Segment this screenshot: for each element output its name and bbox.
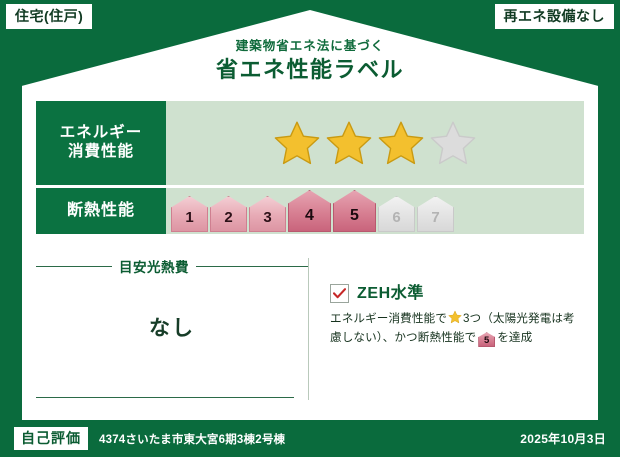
grade-number: 7 [431, 210, 439, 232]
star-icon-filled [324, 119, 374, 167]
lower-section: 目安光熱費 なし ZEH水準 エネルギー消費性能で3つ（太陽光発電は考慮しない）… [36, 256, 584, 404]
utility-cost-heading: 目安光熱費 [36, 256, 308, 276]
insulation-grade-5: 5 [333, 190, 376, 232]
issue-date: 2025年10月3日 [520, 430, 606, 447]
insulation-performance-header: 断熱性能 [36, 188, 166, 234]
heading-rule-left [36, 266, 112, 267]
performance-table: エネルギー 消費性能 断熱性能 1234567 [36, 101, 584, 237]
insulation-grade-7: 7 [417, 196, 454, 232]
page-title: 省エネ性能ラベル [0, 58, 620, 82]
property-address: 4374さいたま市東大宮6期3棟2号棟 [99, 431, 285, 447]
zeh-desc-part3: を達成 [497, 331, 532, 344]
star-icon-empty [428, 119, 478, 167]
building-type-tag: 住宅(住戸) [6, 4, 92, 29]
insulation-grade-3: 3 [249, 196, 286, 232]
inline-grade-number: 5 [484, 336, 489, 348]
energy-performance-label: 住宅(住戸) 再エネ設備なし 建築物省エネ法に基づく 省エネ性能ラベル エネルギ… [0, 0, 620, 457]
inline-grade-badge: 5 [478, 332, 495, 347]
star-icon-filled [376, 119, 426, 167]
self-evaluation-badge: 自己評価 [14, 427, 88, 450]
renewable-energy-tag: 再エネ設備なし [495, 4, 615, 29]
insulation-grade-1: 1 [171, 196, 208, 232]
utility-cost-value: なし [36, 312, 308, 342]
insulation-performance-row: 断熱性能 1234567 [36, 188, 584, 234]
energy-label-line2: 消費性能 [68, 143, 134, 162]
grade-number: 4 [305, 208, 314, 232]
label-title-block: 建築物省エネ法に基づく 省エネ性能ラベル [0, 40, 620, 82]
zeh-column: ZEH水準 エネルギー消費性能で3つ（太陽光発電は考慮しない）、かつ断熱性能で5… [308, 256, 584, 404]
zeh-block: ZEH水準 エネルギー消費性能で3つ（太陽光発電は考慮しない）、かつ断熱性能で5… [330, 284, 584, 348]
energy-label-line1: エネルギー [60, 124, 143, 143]
zeh-title-row: ZEH水準 [330, 284, 584, 303]
insulation-grade-6: 6 [378, 196, 415, 232]
grade-number: 2 [224, 210, 232, 232]
insulation-grade-2: 2 [210, 196, 247, 232]
insulation-performance-value: 1234567 [166, 188, 584, 234]
zeh-description: エネルギー消費性能で3つ（太陽光発電は考慮しない）、かつ断熱性能で5を達成 [330, 310, 584, 348]
star-rating [272, 119, 478, 167]
energy-performance-header: エネルギー 消費性能 [36, 101, 166, 185]
utility-cost-bottom-rule [36, 397, 294, 398]
zeh-desc-part1: エネルギー消費性能で [330, 312, 447, 325]
insulation-grade-4: 4 [288, 190, 331, 232]
grade-number: 3 [263, 210, 271, 232]
insulation-label: 断熱性能 [67, 201, 135, 221]
grade-number: 5 [350, 208, 359, 232]
star-icon-filled [272, 119, 322, 167]
grade-number: 1 [185, 210, 193, 232]
utility-cost-heading-text: 目安光熱費 [119, 256, 189, 276]
insulation-grade-scale: 1234567 [170, 190, 454, 232]
heading-rule-right [196, 266, 308, 267]
grade-number: 6 [392, 210, 400, 232]
title-subtitle: 建築物省エネ法に基づく [0, 40, 620, 54]
energy-performance-value [166, 101, 584, 185]
energy-performance-row: エネルギー 消費性能 [36, 101, 584, 185]
label-footer: 自己評価 4374さいたま市東大宮6期3棟2号棟 2025年10月3日 [0, 420, 620, 457]
zeh-checkbox[interactable] [330, 284, 349, 303]
star-icon [448, 310, 462, 324]
check-icon [333, 288, 346, 299]
utility-cost-column: 目安光熱費 なし [36, 256, 308, 404]
zeh-label: ZEH水準 [357, 286, 424, 302]
